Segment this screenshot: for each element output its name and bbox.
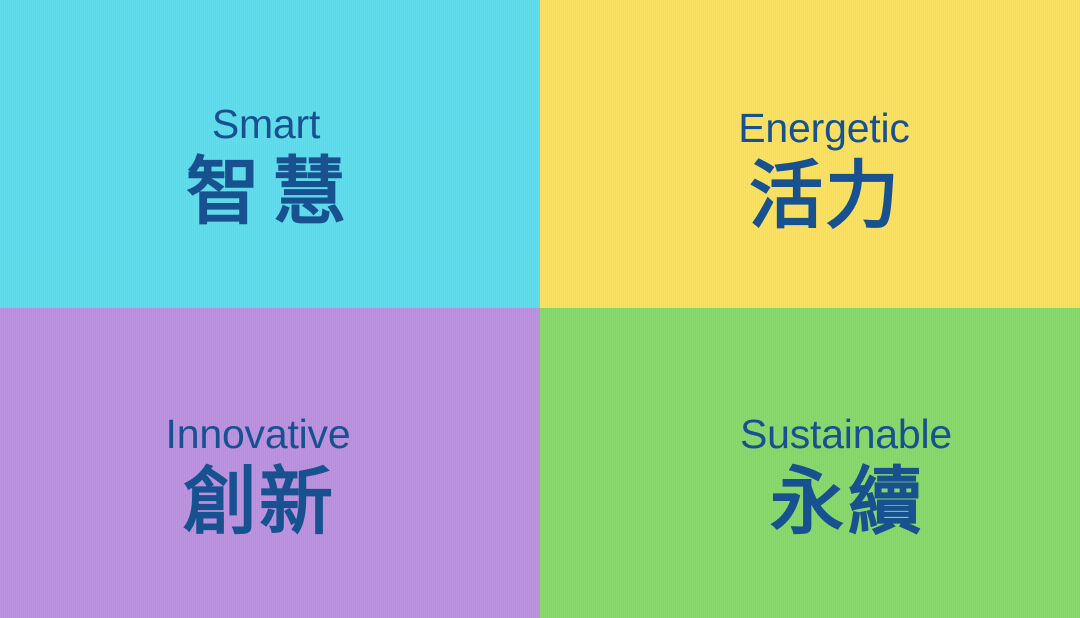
quadrant-smart-label-en: Smart xyxy=(212,104,320,145)
quadrant-smart: Smart 智慧 xyxy=(0,0,540,308)
quadrant-smart-content: Smart 智慧 xyxy=(174,104,358,229)
quadrant-innovative-label-zh: 創新 xyxy=(181,465,335,539)
quadrant-innovative-label-en: Innovative xyxy=(166,414,351,455)
quadrant-sustainable-label-en: Sustainable xyxy=(740,414,952,455)
quadrant-sustainable-content: Sustainable 永續 xyxy=(740,414,952,539)
quadrant-innovative: Innovative 創新 xyxy=(0,308,540,618)
brand-values-quadrant-board: Smart 智慧 Energetic 活力 Innovative 創新 Sust… xyxy=(0,0,1080,618)
quadrant-sustainable: Sustainable 永續 xyxy=(540,308,1080,618)
quadrant-energetic-label-zh: 活力 xyxy=(747,159,901,233)
quadrant-energetic-label-en: Energetic xyxy=(738,108,909,149)
quadrant-sustainable-label-zh: 永續 xyxy=(766,465,926,539)
quadrant-smart-label-zh: 智慧 xyxy=(174,155,358,229)
quadrant-innovative-content: Innovative 創新 xyxy=(166,414,351,539)
quadrant-energetic: Energetic 活力 xyxy=(540,0,1080,308)
quadrant-energetic-content: Energetic 活力 xyxy=(738,108,909,233)
